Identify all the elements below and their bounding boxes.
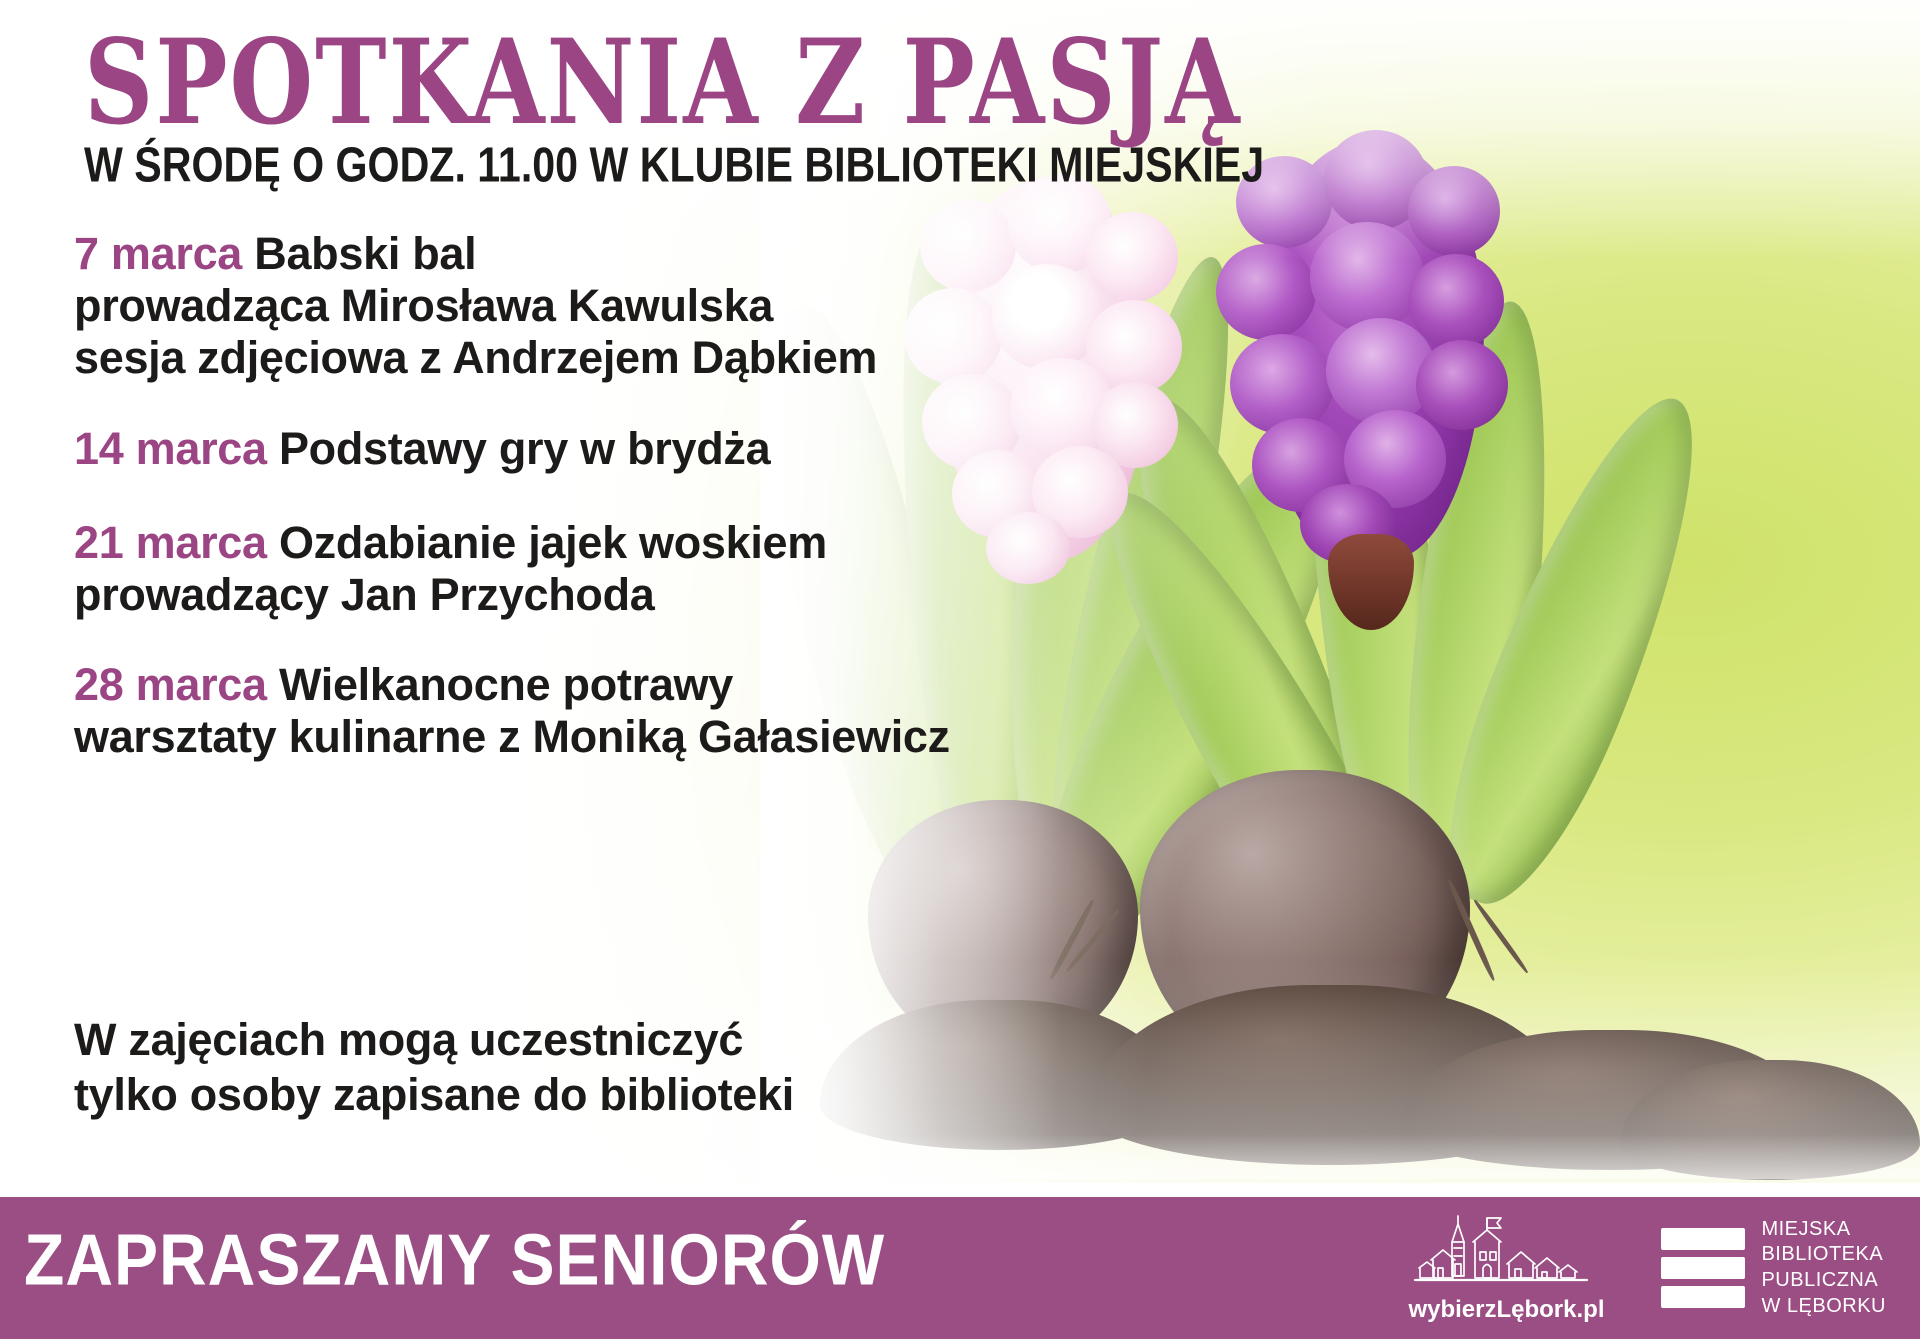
event-date: 7 marca (74, 228, 242, 279)
book-bar (1661, 1228, 1745, 1250)
event-headline: 28 marca Wielkanocne potrawy (74, 659, 974, 711)
logo-group: wybierzLębork.pl MIEJSKA BIBLIOTEKA PUBL… (1403, 1205, 1886, 1331)
event-headline: 21 marca Ozdabianie jajek woskiem (74, 517, 974, 569)
library-name-line: BIBLIOTEKA (1761, 1243, 1886, 1267)
event-title: Babski bal (254, 228, 476, 279)
event-title: Ozdabianie jajek woskiem (279, 517, 827, 568)
closing-line-1: W zajęciach mogą uczestniczyć (74, 1013, 794, 1068)
banner-divider (0, 1183, 1920, 1197)
event-list: 7 marca Babski bal prowadząca Mirosława … (74, 228, 974, 802)
event-headline: 7 marca Babski bal (74, 228, 974, 280)
event-title: Podstawy gry w brydża (279, 423, 770, 474)
page-title: SPOTKANIA Z PASJĄ (84, 24, 1242, 141)
closing-line-2: tylko osoby zapisane do biblioteki (74, 1068, 794, 1123)
closing-note: W zajęciach mogą uczestniczyć tylko osob… (74, 1013, 794, 1123)
book-bar (1661, 1257, 1745, 1279)
event-detail: warsztaty kulinarne z Moniką Gałasiewicz (74, 711, 974, 763)
poster: SPOTKANIA Z PASJĄ W ŚRODĘ O GODZ. 11.00 … (0, 0, 1920, 1339)
bottom-banner: ZAPRASZAMY SENIORÓW (0, 1197, 1920, 1339)
library-name-line: MIEJSKA (1761, 1218, 1886, 1242)
event-date: 21 marca (74, 517, 267, 568)
event-date: 28 marca (74, 659, 267, 710)
page-subtitle: W ŚRODĘ O GODZ. 11.00 W KLUBIE BIBLIOTEK… (84, 140, 1264, 190)
event-detail: prowadząca Mirosława Kawulska (74, 280, 974, 332)
event-item: 28 marca Wielkanocne potrawy warsztaty k… (74, 659, 974, 763)
event-item: 21 marca Ozdabianie jajek woskiem prowad… (74, 517, 974, 621)
event-item: 7 marca Babski bal prowadząca Mirosława … (74, 228, 974, 385)
call-to-action: ZAPRASZAMY SENIORÓW (24, 1223, 885, 1296)
event-title: Wielkanocne potrawy (279, 659, 733, 710)
library-name-line: W LĘBORKU (1761, 1295, 1886, 1319)
stacked-books-icon (1661, 1228, 1745, 1308)
library-name-line: PUBLICZNA (1761, 1269, 1886, 1293)
town-skyline-icon (1411, 1212, 1601, 1292)
book-bar (1661, 1286, 1745, 1308)
library-name: MIEJSKA BIBLIOTEKA PUBLICZNA W LĘBORKU (1761, 1218, 1886, 1318)
library-logo[interactable]: MIEJSKA BIBLIOTEKA PUBLICZNA W LĘBORKU (1661, 1218, 1886, 1318)
event-detail: prowadzący Jan Przychoda (74, 569, 974, 621)
event-headline: 14 marca Podstawy gry w brydża (74, 423, 974, 475)
lebork-wordmark: wybierzLębork.pl (1403, 1296, 1609, 1324)
event-date: 14 marca (74, 423, 267, 474)
lebork-logo[interactable]: wybierzLębork.pl (1403, 1210, 1609, 1326)
event-detail: sesja zdjęciowa z Andrzejem Dąbkiem (74, 332, 974, 384)
event-item: 14 marca Podstawy gry w brydża (74, 423, 974, 475)
